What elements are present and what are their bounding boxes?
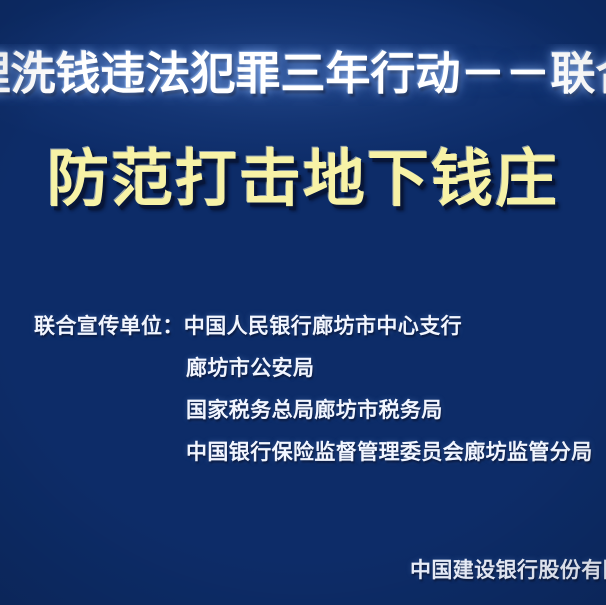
sponsor-line-4: 中国银行保险监督管理委员会廊坊监管分局 xyxy=(34,431,600,473)
footer-area: 中国建设银行股份有限 xyxy=(0,552,606,596)
headline-banner: 理洗钱违法犯罪三年行动－－联合 xyxy=(0,44,606,106)
footer-text: 中国建设银行股份有限 xyxy=(410,552,606,588)
headline-text: 理洗钱违法犯罪三年行动－－联合 xyxy=(0,44,606,104)
sponsor-list: 联合宣传单位：中国人民银行廊坊市中心支行 廊坊市公安局 国家税务总局廊坊市税务局… xyxy=(34,305,600,473)
sponsor-line-1: 联合宣传单位：中国人民银行廊坊市中心支行 xyxy=(34,305,600,347)
main-title-text: 防范打击地下钱庄 xyxy=(47,140,559,218)
sponsor-line-2: 廊坊市公安局 xyxy=(34,347,600,389)
poster-canvas: 理洗钱违法犯罪三年行动－－联合 防范打击地下钱庄 联合宣传单位：中国人民银行廊坊… xyxy=(0,0,606,605)
main-title-area: 防范打击地下钱庄 xyxy=(0,140,606,220)
sponsor-line-3: 国家税务总局廊坊市税务局 xyxy=(34,389,600,431)
